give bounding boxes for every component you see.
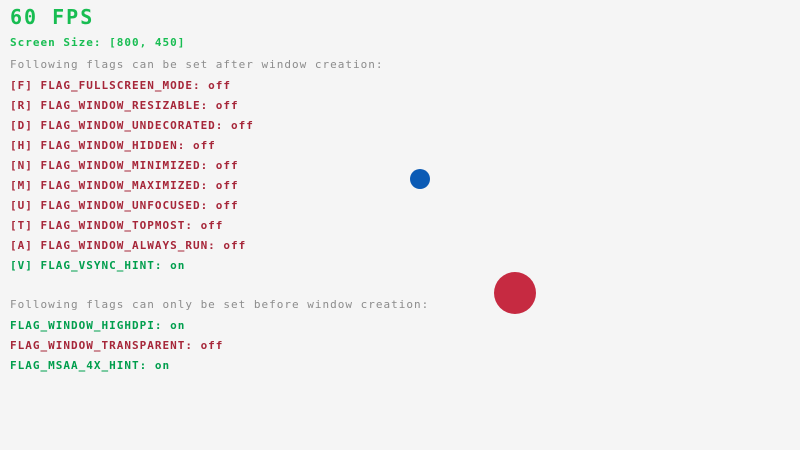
before-creation-section-header: Following flags can only be set before w…	[10, 299, 429, 310]
flag-row-flag-window-topmost[interactable]: [T] FLAG_WINDOW_TOPMOST: off	[10, 220, 223, 231]
fps-counter: 60 FPS	[10, 7, 94, 27]
flag-row-flag-window-highdpi[interactable]: FLAG_WINDOW_HIGHDPI: on	[10, 320, 185, 331]
flag-row-flag-window-maximized[interactable]: [M] FLAG_WINDOW_MAXIMIZED: off	[10, 180, 239, 191]
screen-size-readout: Screen Size: [800, 450]	[10, 37, 185, 48]
flag-row-flag-window-resizable[interactable]: [R] FLAG_WINDOW_RESIZABLE: off	[10, 100, 239, 111]
after-creation-section-header: Following flags can be set after window …	[10, 59, 384, 70]
flag-row-flag-vsync-hint[interactable]: [V] FLAG_VSYNC_HINT: on	[10, 260, 185, 271]
blue-ball	[410, 169, 430, 189]
flag-row-flag-window-undecorated[interactable]: [D] FLAG_WINDOW_UNDECORATED: off	[10, 120, 254, 131]
flag-row-flag-window-hidden[interactable]: [H] FLAG_WINDOW_HIDDEN: off	[10, 140, 216, 151]
flag-row-flag-window-always-run[interactable]: [A] FLAG_WINDOW_ALWAYS_RUN: off	[10, 240, 246, 251]
flag-row-flag-fullscreen-mode[interactable]: [F] FLAG_FULLSCREEN_MODE: off	[10, 80, 231, 91]
flag-row-flag-window-unfocused[interactable]: [U] FLAG_WINDOW_UNFOCUSED: off	[10, 200, 239, 211]
flag-row-flag-window-minimized[interactable]: [N] FLAG_WINDOW_MINIMIZED: off	[10, 160, 239, 171]
flag-row-flag-msaa-4x-hint[interactable]: FLAG_MSAA_4X_HINT: on	[10, 360, 170, 371]
red-ball	[494, 272, 536, 314]
flag-row-flag-window-transparent[interactable]: FLAG_WINDOW_TRANSPARENT: off	[10, 340, 223, 351]
raylib-window-canvas: 60 FPS Screen Size: [800, 450] Following…	[0, 0, 800, 450]
